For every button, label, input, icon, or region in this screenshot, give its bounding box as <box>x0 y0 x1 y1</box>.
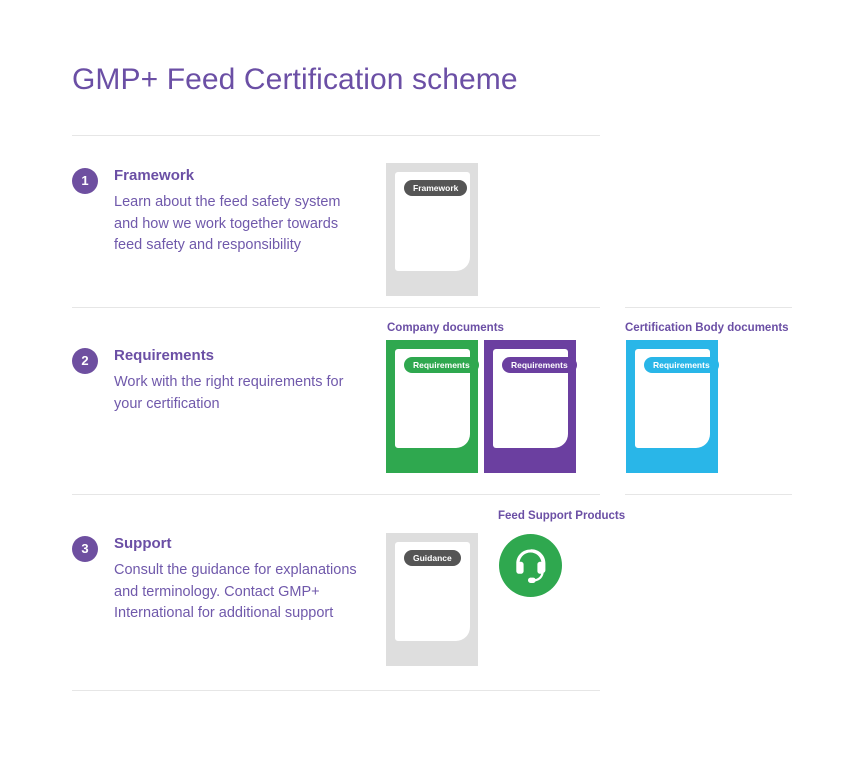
step-row-support: 3 Support Consult the guidance for expla… <box>72 534 372 625</box>
step-body-2: Requirements Work with the right require… <box>114 346 372 415</box>
divider-bottom <box>72 690 600 691</box>
document-card-page: Requirements <box>635 349 710 448</box>
document-card-page: Framework <box>395 172 470 271</box>
caption-feed-support-products: Feed Support Products <box>498 510 625 522</box>
document-card-guidance[interactable]: Guidance <box>386 533 478 666</box>
caption-company-documents: Company documents <box>387 322 504 334</box>
caption-certification-body-documents: Certification Body documents <box>625 322 789 334</box>
document-card-requirements-cyan[interactable]: Requirements <box>626 340 718 473</box>
step-title-requirements: Requirements <box>114 346 372 366</box>
step-row-requirements: 2 Requirements Work with the right requi… <box>72 346 372 415</box>
divider-row1-right <box>625 307 792 308</box>
divider-top <box>72 135 600 136</box>
step-title-framework: Framework <box>114 166 372 186</box>
document-card-requirements-purple[interactable]: Requirements <box>484 340 576 473</box>
document-card-page: Requirements <box>395 349 470 448</box>
step-body-1: Framework Learn about the feed safety sy… <box>114 166 372 257</box>
document-card-page: Requirements <box>493 349 568 448</box>
document-card-label-requirements-purple: Requirements <box>502 357 577 373</box>
document-card-framework[interactable]: Framework <box>386 163 478 296</box>
page-title: GMP+ Feed Certification scheme <box>72 63 518 97</box>
document-card-label-requirements-cyan: Requirements <box>644 357 719 373</box>
document-card-label-framework: Framework <box>404 180 467 196</box>
step-description-support: Consult the guidance for explanations an… <box>114 560 366 625</box>
step-number-badge-2: 2 <box>72 348 98 374</box>
step-description-requirements: Work with the right requirements for you… <box>114 372 366 415</box>
document-card-label-requirements-green: Requirements <box>404 357 479 373</box>
step-row-framework: 1 Framework Learn about the feed safety … <box>72 166 372 257</box>
document-card-requirements-green[interactable]: Requirements <box>386 340 478 473</box>
divider-row2-left <box>72 494 600 495</box>
divider-row1-left <box>72 307 600 308</box>
certification-scheme-page: GMP+ Feed Certification scheme 1 Framewo… <box>0 0 863 764</box>
headset-icon[interactable] <box>499 534 562 597</box>
document-card-label-guidance: Guidance <box>404 550 461 566</box>
step-title-support: Support <box>114 534 372 554</box>
divider-row2-right <box>625 494 792 495</box>
step-description-framework: Learn about the feed safety system and h… <box>114 192 366 257</box>
step-body-3: Support Consult the guidance for explana… <box>114 534 372 625</box>
step-number-badge-3: 3 <box>72 536 98 562</box>
document-card-page: Guidance <box>395 542 470 641</box>
step-number-badge-1: 1 <box>72 168 98 194</box>
